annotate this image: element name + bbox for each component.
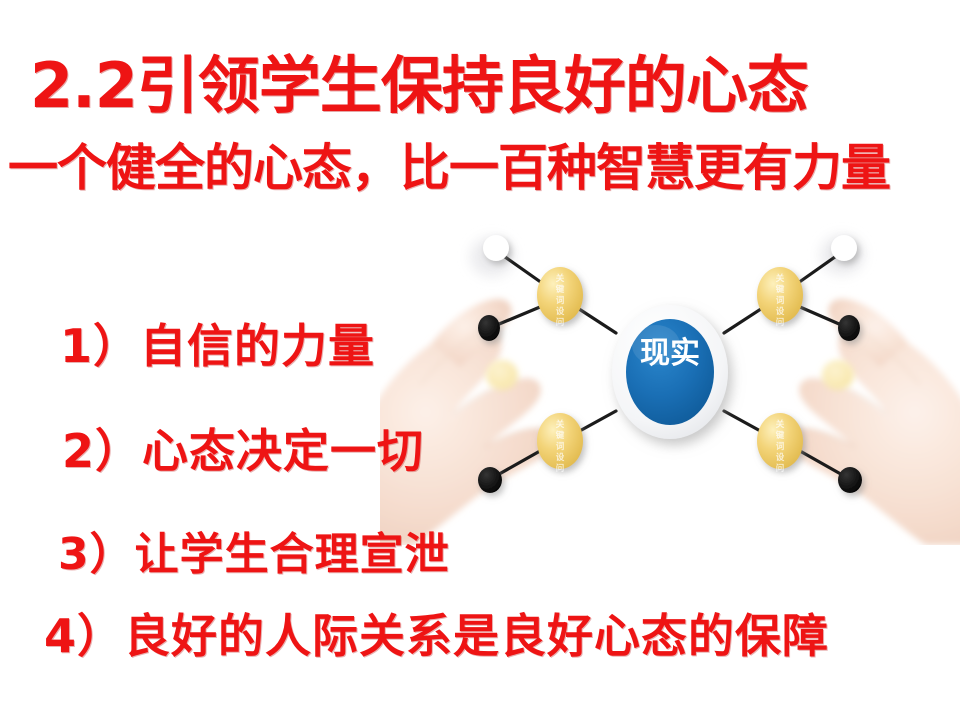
center-node-label: 现实	[640, 336, 700, 371]
node-top-right-label: 关键词设问	[775, 273, 785, 328]
slide-canvas: 关键词设问 关键词设问 关键词设问 关键词设问 现实 2.	[0, 0, 960, 720]
hands-mindmap-graphic: 关键词设问 关键词设问 关键词设问 关键词设问 现实	[380, 215, 960, 545]
slide-subtitle: 一个健全的心态，比一百种智慧更有力量	[8, 140, 948, 196]
slide-title: 2.2引领学生保持良好的心态	[30, 52, 950, 120]
node-bottom-right-label: 关键词设问	[775, 419, 785, 474]
graphic-halos	[470, 235, 864, 277]
node-bottom-right[interactable]: 关键词设问	[757, 413, 803, 474]
bullet-item-1: 1）自信的力量	[60, 310, 375, 376]
bullet-item-2: 2）心态决定一切	[62, 415, 424, 481]
node-bottom-left-label: 关键词设问	[555, 419, 565, 474]
center-node-reality[interactable]: 现实	[612, 305, 728, 439]
diagram-white-dots	[483, 235, 857, 261]
node-bottom-left[interactable]: 关键词设问	[537, 413, 583, 474]
right-hand-image	[786, 299, 960, 545]
node-top-left-label: 关键词设问	[555, 273, 565, 328]
bullet-item-3: 3）让学生合理宣泄	[58, 518, 450, 582]
bullet-item-4: 4）良好的人际关系是良好心态的保障	[44, 600, 829, 666]
node-top-left[interactable]: 关键词设问	[537, 267, 583, 328]
node-top-right[interactable]: 关键词设问	[757, 267, 803, 328]
